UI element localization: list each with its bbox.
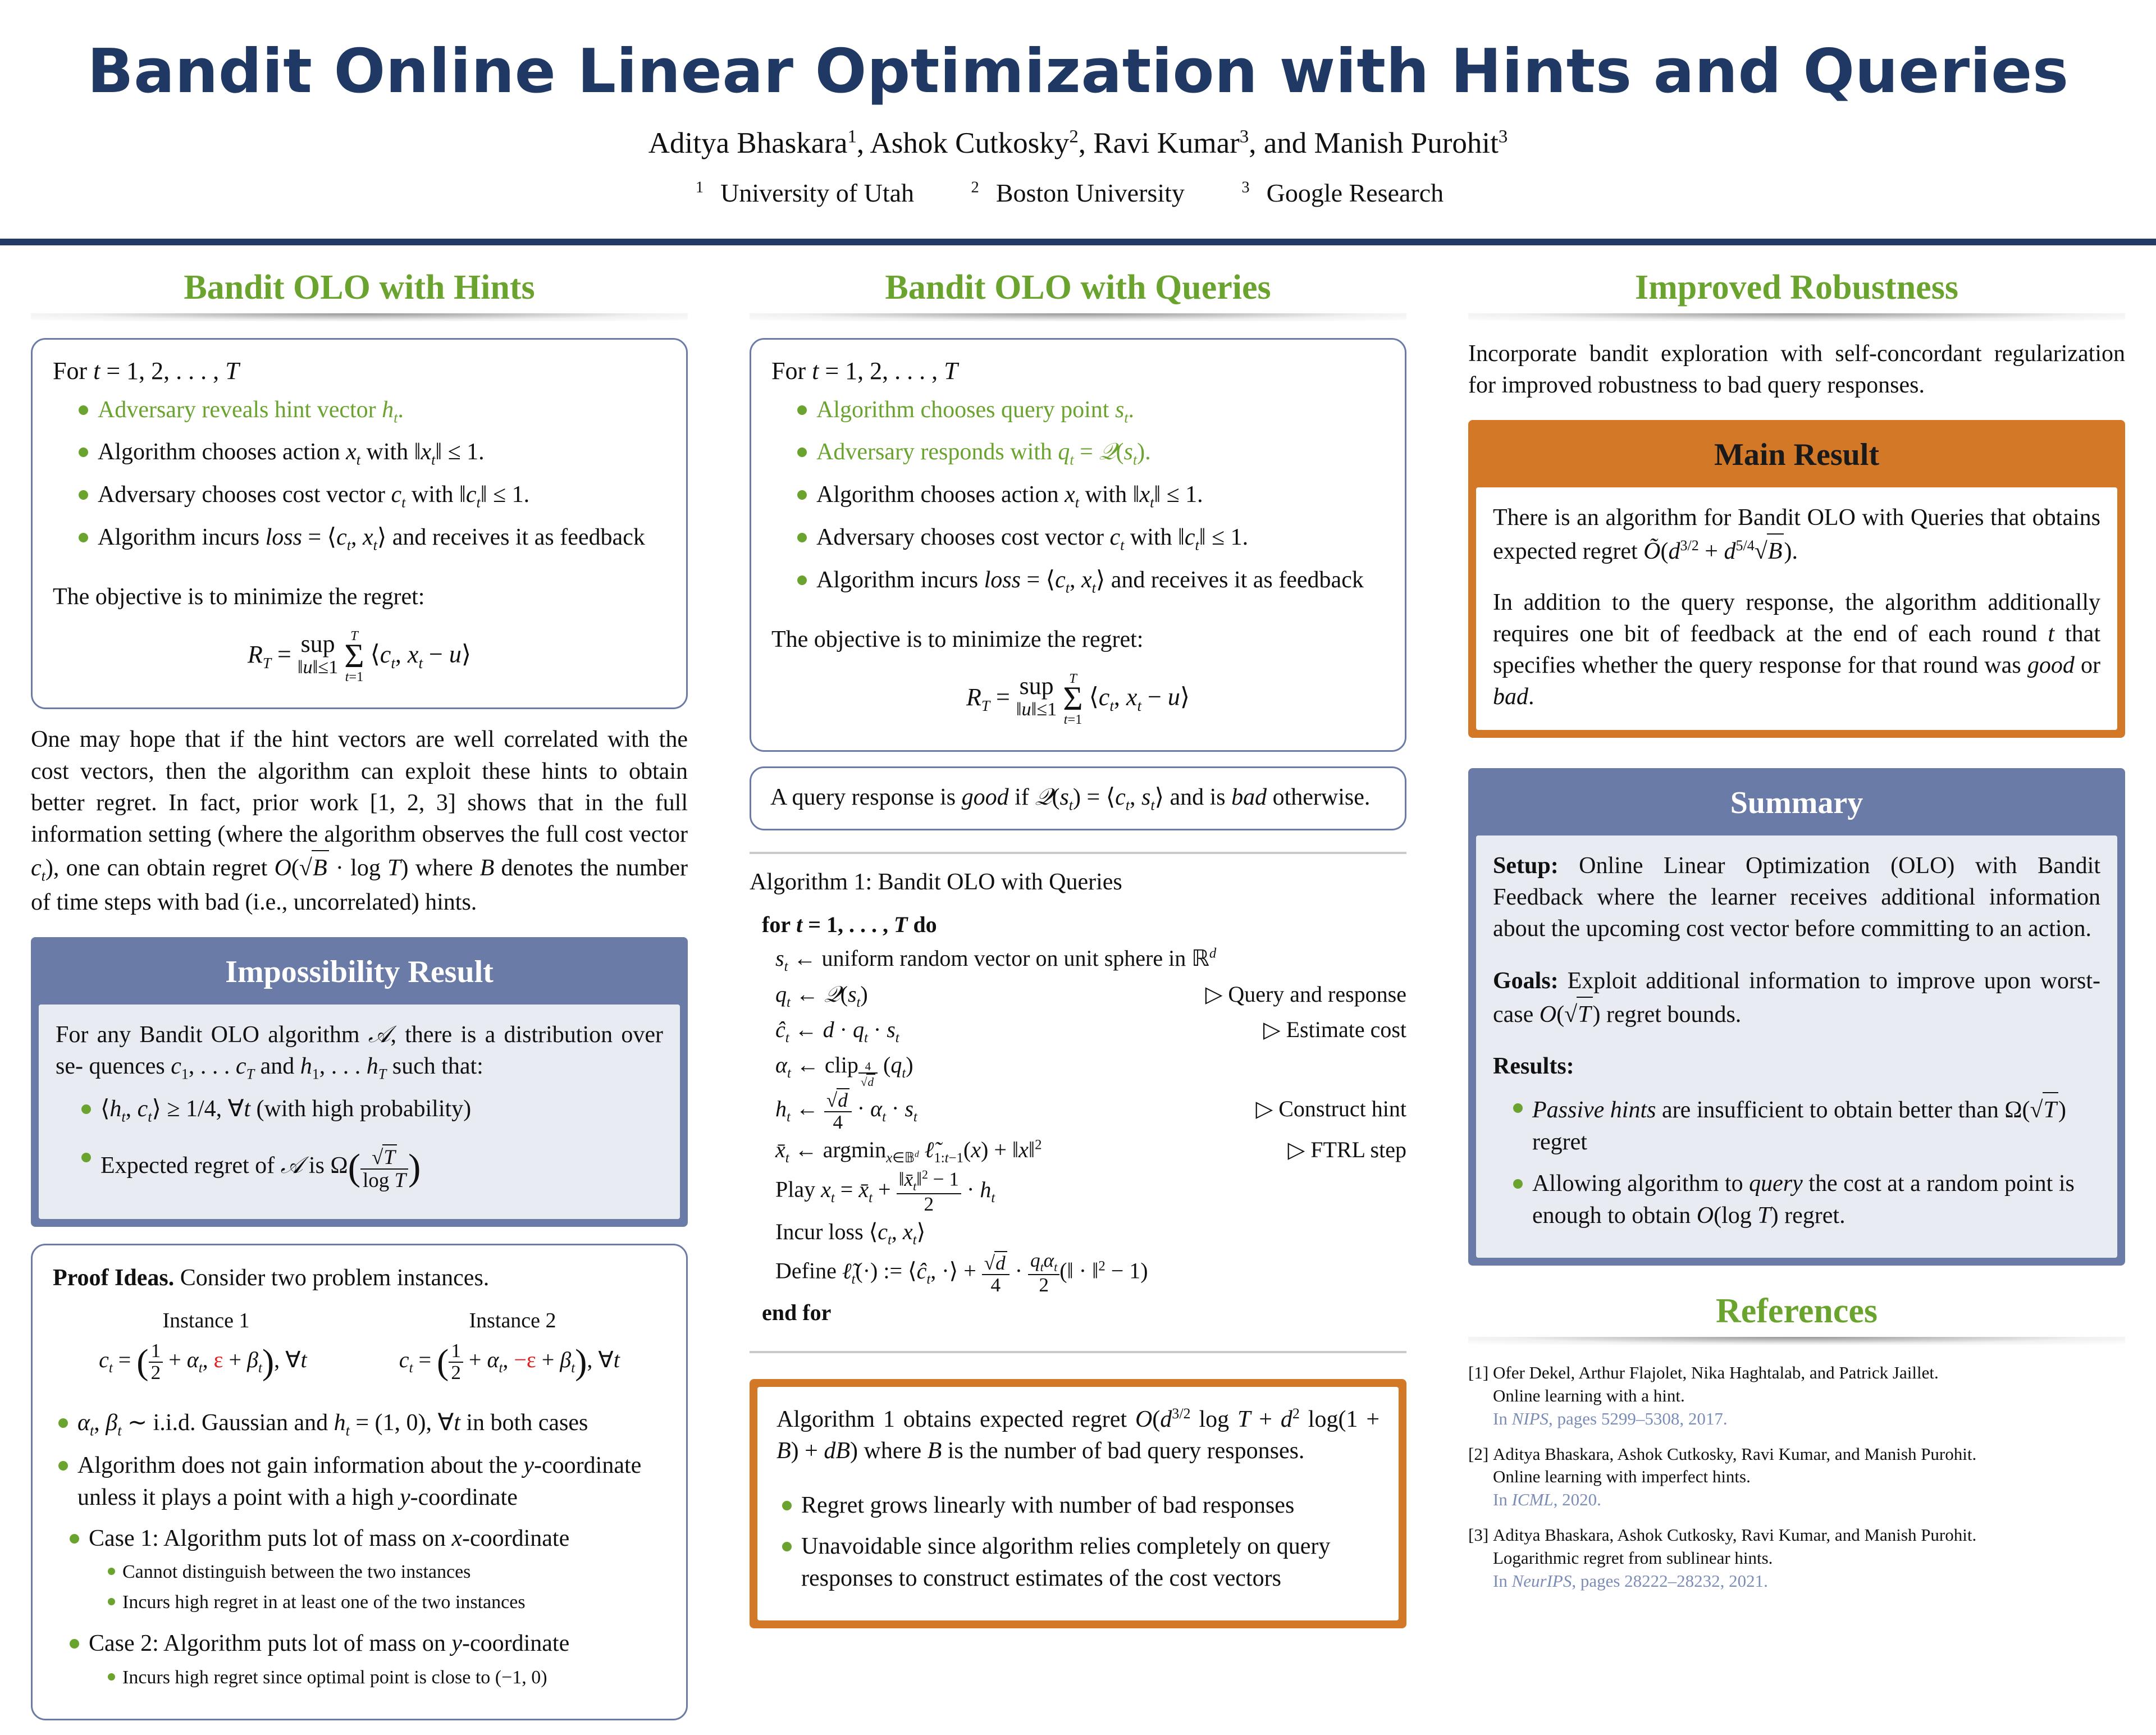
algorithm-comment: ▷ Construct hint: [1239, 1092, 1406, 1126]
affiliation-item: 2Boston University: [971, 179, 1202, 207]
algorithm-caption: Algorithm 1: Bandit OLO with Queries: [750, 869, 1406, 896]
poster-header: Bandit Online Linear Optimization with H…: [0, 0, 2156, 245]
proof-case-2-sublist: Incurs high regret since optimal point i…: [89, 1665, 666, 1691]
author-affiliation-mark: 1: [847, 126, 856, 147]
protocol-list-hints: Adversary reveals hint vector ht. Algori…: [53, 394, 666, 555]
reference-paper-title: Online learning with imperfect hints.: [1493, 1465, 2125, 1489]
affiliation-list: 1University of Utah 2Boston University 3…: [0, 178, 2156, 208]
section-title-robustness: Improved Robustness: [1468, 268, 2125, 308]
proof-case-item: Case 1: Algorithm puts lot of mass on x-…: [70, 1523, 666, 1616]
summary-setup-label: Setup:: [1493, 853, 1559, 879]
author-name: Ashok Cutkosky: [870, 127, 1069, 159]
summary-setup-text: Online Linear Optimization (OLO) with Ba…: [1493, 853, 2100, 942]
protocol-item: Algorithm chooses query point st.: [797, 394, 1385, 428]
author-list: Aditya Bhaskara1, Ashok Cutkosky2, Ravi …: [0, 126, 2156, 160]
summary-result-item: Allowing algorithm to query the cost at …: [1513, 1168, 2100, 1232]
proof-assumptions-list: αt, βt ∼ i.i.d. Gaussian and ht = (1, 0)…: [53, 1407, 666, 1514]
summary-body: Setup: Online Linear Optimization (OLO) …: [1476, 835, 2117, 1258]
proof-ideas-heading: Proof Ideas. Consider two problem instan…: [53, 1262, 666, 1294]
section-title-hints: Bandit OLO with Hints: [31, 268, 688, 308]
reference-venue: In ICML, 2020.: [1493, 1489, 2125, 1512]
reference-paper-title: Logarithmic regret from sublinear hints.: [1493, 1547, 2125, 1570]
proof-case-subitem: Cannot distinguish between the two insta…: [108, 1559, 666, 1585]
algorithm-comment: ▷ Estimate cost: [1246, 1013, 1406, 1047]
algorithm-line: x̄t ← argminx∈𝔹d ℓ̃1:t−1(x) + ‖x‖2▷ FTRL…: [750, 1133, 1406, 1168]
affiliation-mark: 3: [1241, 179, 1249, 196]
good-bad-definition-box: A query response is good if 𝒬(st) = ⟨ct,…: [750, 766, 1406, 830]
affiliation-name: Google Research: [1267, 179, 1444, 207]
protocol-box-hints: For t = 1, 2, . . . , T Adversary reveal…: [31, 338, 688, 710]
section-title-rule: [1468, 313, 2125, 321]
protocol-lead: For t = 1, 2, . . . , T: [53, 357, 666, 385]
impossibility-result-body: For any Bandit OLO algorithm 𝒜, there is…: [39, 1005, 680, 1219]
affiliation-name: Boston University: [996, 179, 1185, 207]
section-title-queries: Bandit OLO with Queries: [750, 268, 1406, 308]
algorithm-bottom-rule: [750, 1351, 1406, 1353]
column-bandit-olo-with-queries: Bandit OLO with Queries For t = 1, 2, . …: [719, 245, 1437, 1735]
section-title-rule: [31, 313, 688, 321]
algorithm-line: ht ← √d4 · αt · st▷ Construct hint: [750, 1088, 1406, 1133]
instance-equations-row: ct = (12 + αt, ε + βt), ∀t ct = (12 + αt…: [53, 1341, 666, 1384]
main-result-paragraph-2: In addition to the query response, the a…: [1493, 587, 2100, 713]
algorithm-line: Incur loss ⟨ct, xt⟩: [750, 1215, 1406, 1250]
impossibility-result-title: Impossibility Result: [39, 945, 680, 1005]
author-affiliation-mark: 3: [1499, 126, 1508, 147]
algorithm-body: for t = 1, . . . , T do st ← uniform ran…: [750, 908, 1406, 1330]
reference-authors: Aditya Bhaskara, Ashok Cutkosky, Ravi Ku…: [1493, 1443, 2125, 1466]
reference-text: Aditya Bhaskara, Ashok Cutkosky, Ravi Ku…: [1493, 1443, 2125, 1512]
page-title: Bandit Online Linear Optimization with H…: [0, 39, 2156, 105]
reference-venue: In NeurIPS, pages 28222–28232, 2021.: [1493, 1570, 2125, 1593]
regret-equation-queries: RT = sup‖u‖≤1 TΣt=1 ⟨ct, xt − u⟩: [771, 672, 1385, 727]
affiliation-name: University of Utah: [720, 179, 914, 207]
main-result-paragraph-1: There is an algorithm for Bandit OLO wit…: [1493, 502, 2100, 568]
proof-case-subitem: Incurs high regret since optimal point i…: [108, 1665, 666, 1691]
summary-title: Summary: [1476, 776, 2117, 835]
algorithm-line: Define ℓ̃t(·) := ⟨ĉt, ·⟩ + √d4 · qtαt2(‖…: [750, 1250, 1406, 1296]
algorithm-line: Play xt = x̄t + ‖x̄t‖2 − 12 · ht: [750, 1168, 1406, 1215]
protocol-box-queries: For t = 1, 2, . . . , T Algorithm choose…: [750, 338, 1406, 752]
reference-number: [1]: [1468, 1362, 1493, 1431]
proof-case-1-sublist: Cannot distinguish between the two insta…: [89, 1559, 666, 1615]
algorithm-line: st ← uniform random vector on unit spher…: [750, 942, 1406, 977]
algorithm-result-item: Regret grows linearly with number of bad…: [782, 1490, 1380, 1522]
algorithm-result-list: Regret grows linearly with number of bad…: [776, 1490, 1380, 1595]
affiliation-item: 1University of Utah: [696, 179, 931, 207]
section-title-rule: [750, 313, 1406, 321]
summary-box: Summary Setup: Online Linear Optimizatio…: [1468, 768, 2125, 1266]
reference-item: [2] Aditya Bhaskara, Ashok Cutkosky, Rav…: [1468, 1443, 2125, 1512]
proof-ideas-box: Proof Ideas. Consider two problem instan…: [31, 1244, 688, 1720]
impossibility-result-box: Impossibility Result For any Bandit OLO …: [31, 937, 688, 1227]
proof-assumption-item: αt, βt ∼ i.i.d. Gaussian and ht = (1, 0)…: [58, 1407, 666, 1441]
robustness-intro-paragraph: Incorporate bandit exploration with self…: [1468, 338, 2125, 401]
protocol-item: Adversary chooses cost vector ct with ‖c…: [79, 479, 666, 513]
author-name: and Manish Purohit: [1264, 127, 1499, 159]
algorithm-top-rule: [750, 852, 1406, 854]
protocol-item: Algorithm chooses action xt with ‖xt‖ ≤ …: [79, 436, 666, 470]
hints-discussion-paragraph: One may hope that if the hint vectors ar…: [31, 724, 688, 918]
reference-number: [3]: [1468, 1524, 1493, 1593]
instance-1-equation: ct = (12 + αt, ε + βt), ∀t: [99, 1341, 307, 1384]
section-title-references: References: [1468, 1291, 2125, 1331]
protocol-item: Adversary responds with qt = 𝒬(st).: [797, 436, 1385, 470]
objective-lead: The objective is to minimize the regret:: [53, 581, 666, 613]
column-improved-robustness: Improved Robustness Incorporate bandit e…: [1437, 245, 2156, 1735]
reference-number: [2]: [1468, 1443, 1493, 1512]
algorithm-end-line: end for: [750, 1296, 1406, 1330]
regret-equation-hints: RT = sup‖u‖≤1 TΣt=1 ⟨ct, xt − u⟩: [53, 629, 666, 684]
proof-assumption-item: Algorithm does not gain information abou…: [58, 1450, 666, 1514]
affiliation-mark: 2: [971, 179, 979, 196]
proof-cases-list: Case 1: Algorithm puts lot of mass on x-…: [53, 1523, 666, 1691]
protocol-item: Adversary chooses cost vector ct with ‖c…: [797, 522, 1385, 555]
algorithm-comment: ▷ FTRL step: [1271, 1133, 1406, 1167]
instance-2-equation: ct = (12 + αt, −ε + βt), ∀t: [399, 1341, 620, 1384]
author-name: Aditya Bhaskara: [648, 127, 848, 159]
protocol-item: Algorithm incurs loss = ⟨ct, xt⟩ and rec…: [797, 564, 1385, 598]
summary-result-item: Passive hints are insufficient to obtain…: [1513, 1092, 2100, 1158]
proof-case-subitem: Incurs high regret in at least one of th…: [108, 1590, 666, 1615]
author-affiliation-mark: 2: [1069, 126, 1078, 147]
protocol-item: Algorithm chooses action xt with ‖xt‖ ≤ …: [797, 479, 1385, 513]
summary-goals-label: Goals:: [1493, 968, 1559, 994]
reference-item: [1] Ofer Dekel, Arthur Flajolet, Nika Ha…: [1468, 1362, 2125, 1431]
impossibility-list: ⟨ht, ct⟩ ≥ 1/4, ∀t (with high probabilit…: [56, 1093, 663, 1193]
summary-setup: Setup: Online Linear Optimization (OLO) …: [1493, 850, 2100, 945]
references-list: [1] Ofer Dekel, Arthur Flajolet, Nika Ha…: [1468, 1362, 2125, 1593]
instance-labels-row: Instance 1 Instance 2: [53, 1308, 666, 1333]
good-bad-definition-text: A query response is good if 𝒬(st) = ⟨ct,…: [770, 782, 1386, 815]
instance-1-label: Instance 1: [162, 1308, 249, 1333]
references-title-rule: [1468, 1337, 2125, 1345]
reference-authors: Ofer Dekel, Arthur Flajolet, Nika Haghta…: [1493, 1362, 2125, 1385]
main-result-title: Main Result: [1476, 428, 2117, 487]
summary-results-label-row: Results:: [1493, 1051, 2100, 1082]
algorithm-line: ĉt ← d · qt · st▷ Estimate cost: [750, 1013, 1406, 1048]
algorithm-comment: ▷ Query and response: [1189, 978, 1406, 1011]
main-result-body: There is an algorithm for Bandit OLO wit…: [1476, 487, 2117, 730]
proof-ideas-heading-rest: Consider two problem instances.: [180, 1265, 490, 1291]
impossibility-item: ⟨ht, ct⟩ ≥ 1/4, ∀t (with high probabilit…: [81, 1093, 663, 1127]
affiliation-mark: 1: [696, 179, 704, 196]
impossibility-item: Expected regret of 𝒜 is Ω(√Tlog T): [81, 1142, 663, 1193]
main-result-box: Main Result There is an algorithm for Ba…: [1468, 420, 2125, 738]
reference-text: Ofer Dekel, Arthur Flajolet, Nika Haghta…: [1493, 1362, 2125, 1431]
protocol-item: Algorithm incurs loss = ⟨ct, xt⟩ and rec…: [79, 522, 666, 555]
reference-venue: In NIPS, pages 5299–5308, 2017.: [1493, 1408, 2125, 1431]
objective-lead: The objective is to minimize the regret:: [771, 624, 1385, 655]
summary-results-list: Passive hints are insufficient to obtain…: [1493, 1092, 2100, 1231]
algorithm-for-line: for t = 1, . . . , T do: [750, 908, 1406, 942]
instance-2-label: Instance 2: [469, 1308, 556, 1333]
impossibility-lead: For any Bandit OLO algorithm 𝒜, there is…: [56, 1019, 663, 1085]
poster-columns: Bandit OLO with Hints For t = 1, 2, . . …: [0, 245, 2156, 1735]
proof-case-item: Case 2: Algorithm puts lot of mass on y-…: [70, 1628, 666, 1690]
algorithm-result-body: Algorithm 1 obtains expected regret O(d3…: [757, 1387, 1399, 1620]
header-divider: [0, 239, 2156, 245]
reference-item: [3] Aditya Bhaskara, Ashok Cutkosky, Rav…: [1468, 1524, 2125, 1593]
protocol-list-queries: Algorithm chooses query point st. Advers…: [771, 394, 1385, 598]
algorithm-result-statement: Algorithm 1 obtains expected regret O(d3…: [776, 1404, 1380, 1467]
affiliation-item: 3Google Research: [1241, 179, 1460, 207]
author-name: Ravi Kumar: [1093, 127, 1240, 159]
reference-text: Aditya Bhaskara, Ashok Cutkosky, Ravi Ku…: [1493, 1524, 2125, 1593]
author-affiliation-mark: 3: [1240, 126, 1249, 147]
algorithm-result-box: Algorithm 1 obtains expected regret O(d3…: [750, 1379, 1406, 1628]
algorithm-line: qt ← 𝒬(st)▷ Query and response: [750, 978, 1406, 1013]
protocol-item: Adversary reveals hint vector ht.: [79, 394, 666, 428]
algorithm-line: αt ← clip4√d (qt): [750, 1048, 1406, 1088]
algorithm-result-item: Unavoidable since algorithm relies compl…: [782, 1531, 1380, 1595]
summary-results-label: Results:: [1493, 1053, 1574, 1079]
proof-ideas-label: Proof Ideas.: [53, 1265, 174, 1291]
reference-paper-title: Online learning with a hint.: [1493, 1385, 2125, 1408]
column-bandit-olo-with-hints: Bandit OLO with Hints For t = 1, 2, . . …: [0, 245, 719, 1735]
summary-goals: Goals: Exploit additional information to…: [1493, 965, 2100, 1031]
protocol-lead: For t = 1, 2, . . . , T: [771, 357, 1385, 385]
reference-authors: Aditya Bhaskara, Ashok Cutkosky, Ravi Ku…: [1493, 1524, 2125, 1547]
